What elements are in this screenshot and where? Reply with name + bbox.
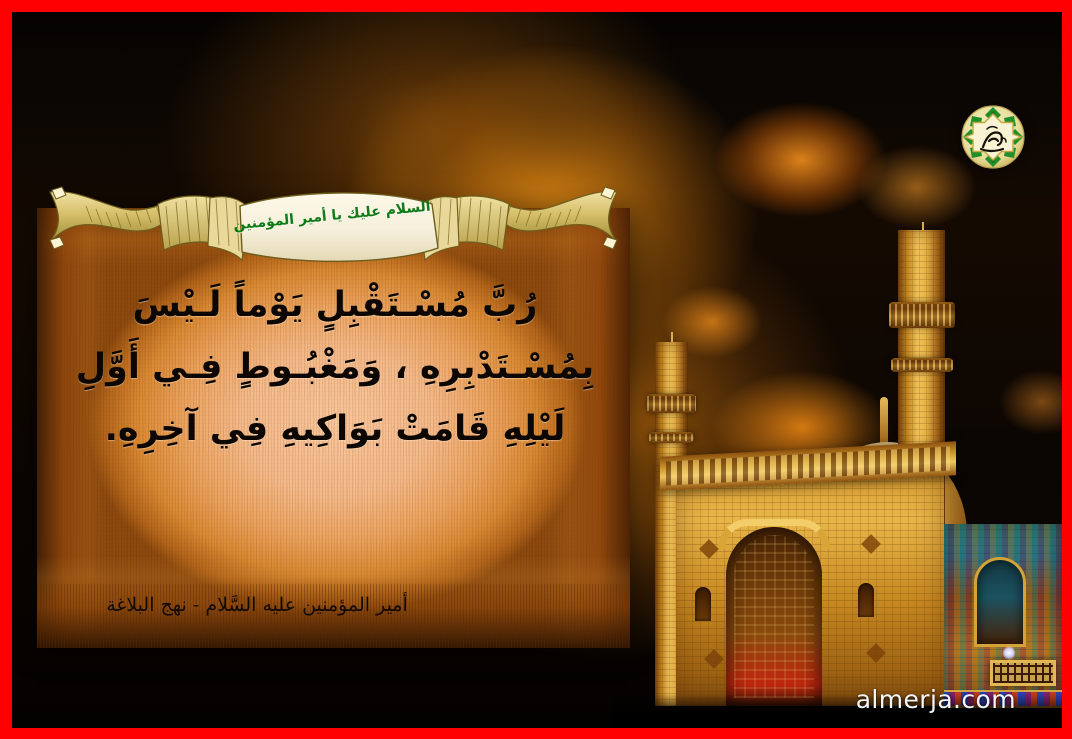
quote-block: رُبَّ مُسْـتَقْبِلٍ يَوْماً لَـيْسَ بِمُ… [57,288,613,447]
wing-lamp-icon [1003,646,1015,660]
quote-line-3: لَيْلِهِ قَامَتْ بَوَاكِيهِ فِي آخِرِهِ. [57,412,613,447]
poster-root: رُبَّ مُسْـتَقْبِلٍ يَوْماً لَـيْسَ بِمُ… [0,0,1072,739]
wing-arch [974,557,1026,647]
medallion-graphic [961,105,1025,169]
ali-calligraphy-medallion [961,105,1025,169]
iwan-entrance-arch [726,527,822,706]
quote-line-2: بِمُسْـتَدْبِرِهِ ، وَمَغْبُـوطٍ فِـي أَ… [57,350,613,385]
wing-window-grill [990,660,1056,686]
facade-window-left [695,587,711,621]
minaret-balcony-small-lower [649,432,694,443]
iwan-arch-trim [718,519,830,549]
facade-window-right [858,583,874,617]
photo-canvas: رُبَّ مُسْـتَقْبِلٍ يَوْماً لَـيْسَ بِمُ… [12,12,1062,728]
minaret-balcony-small-upper [647,394,696,413]
quote-attribution: أمير المؤمنين عليه السَّلام - نهج البلاغ… [57,594,457,616]
minaret-balcony-large-lower [891,358,953,372]
minaret-balcony-large-upper [889,302,955,328]
dome-finial [880,397,888,445]
quote-line-1: رُبَّ مُسْـتَقْبِلٍ يَوْماً لَـيْسَ [57,288,613,323]
site-watermark: almerja.com [856,685,1016,714]
